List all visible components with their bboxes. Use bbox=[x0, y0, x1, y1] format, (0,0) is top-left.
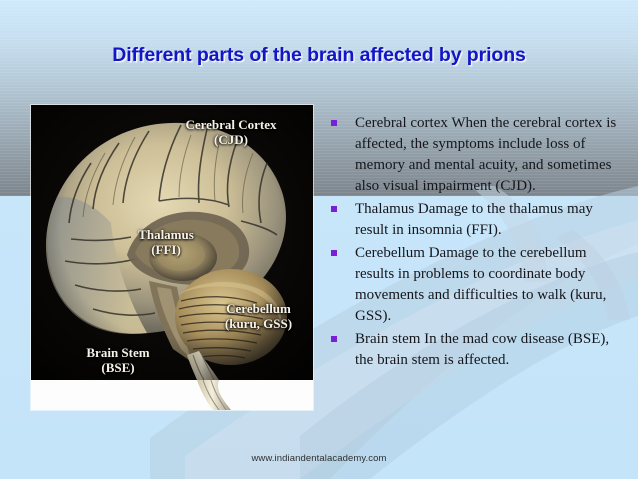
list-item: Cerebellum Damage to the cerebellum resu… bbox=[328, 243, 624, 327]
image-label-title: Cerebellum bbox=[226, 301, 291, 316]
brain-diagram-image: Cerebral Cortex (CJD) Thalamus (FFI) Cer… bbox=[31, 105, 313, 380]
spinal-cord-continuation bbox=[31, 380, 313, 410]
list-item-label: Brain stem In the mad cow disease (BSE),… bbox=[355, 331, 609, 368]
image-label-title: Thalamus bbox=[138, 227, 194, 242]
bullet-list: Cerebral cortex When the cerebral cortex… bbox=[328, 113, 624, 373]
page-title: Different parts of the brain affected by… bbox=[0, 44, 638, 67]
image-label-cerebral-cortex: Cerebral Cortex (CJD) bbox=[161, 117, 301, 147]
square-bullet-icon bbox=[331, 120, 337, 126]
list-item: Thalamus Damage to the thalamus may resu… bbox=[328, 199, 624, 241]
image-label-brain-stem: Brain Stem (BSE) bbox=[53, 345, 183, 375]
list-item: Cerebral cortex When the cerebral cortex… bbox=[328, 113, 624, 197]
image-label-subtitle: (CJD) bbox=[161, 132, 301, 147]
brain-diagram-figure: Cerebral Cortex (CJD) Thalamus (FFI) Cer… bbox=[31, 105, 313, 410]
image-label-subtitle: (FFI) bbox=[106, 242, 226, 257]
image-label-title: Cerebral Cortex bbox=[185, 117, 276, 132]
square-bullet-icon bbox=[331, 206, 337, 212]
image-label-thalamus: Thalamus (FFI) bbox=[106, 227, 226, 257]
list-item: Brain stem In the mad cow disease (BSE),… bbox=[328, 329, 624, 371]
list-item-label: Cerebral cortex When the cerebral cortex… bbox=[355, 115, 616, 194]
image-label-subtitle: (BSE) bbox=[53, 360, 183, 375]
list-item-label: Thalamus Damage to the thalamus may resu… bbox=[355, 201, 593, 238]
image-label-cerebellum: Cerebellum (kuru, GSS) bbox=[196, 301, 313, 331]
image-label-subtitle: (kuru, GSS) bbox=[196, 316, 313, 331]
presentation-slide: Different parts of the brain affected by… bbox=[0, 0, 638, 479]
square-bullet-icon bbox=[331, 336, 337, 342]
footer-watermark: www.indiandentalacademy.com bbox=[0, 453, 638, 464]
image-label-title: Brain Stem bbox=[86, 345, 149, 360]
brain-image-footer-strip bbox=[31, 380, 313, 410]
list-item-label: Cerebellum Damage to the cerebellum resu… bbox=[355, 245, 606, 324]
square-bullet-icon bbox=[331, 250, 337, 256]
